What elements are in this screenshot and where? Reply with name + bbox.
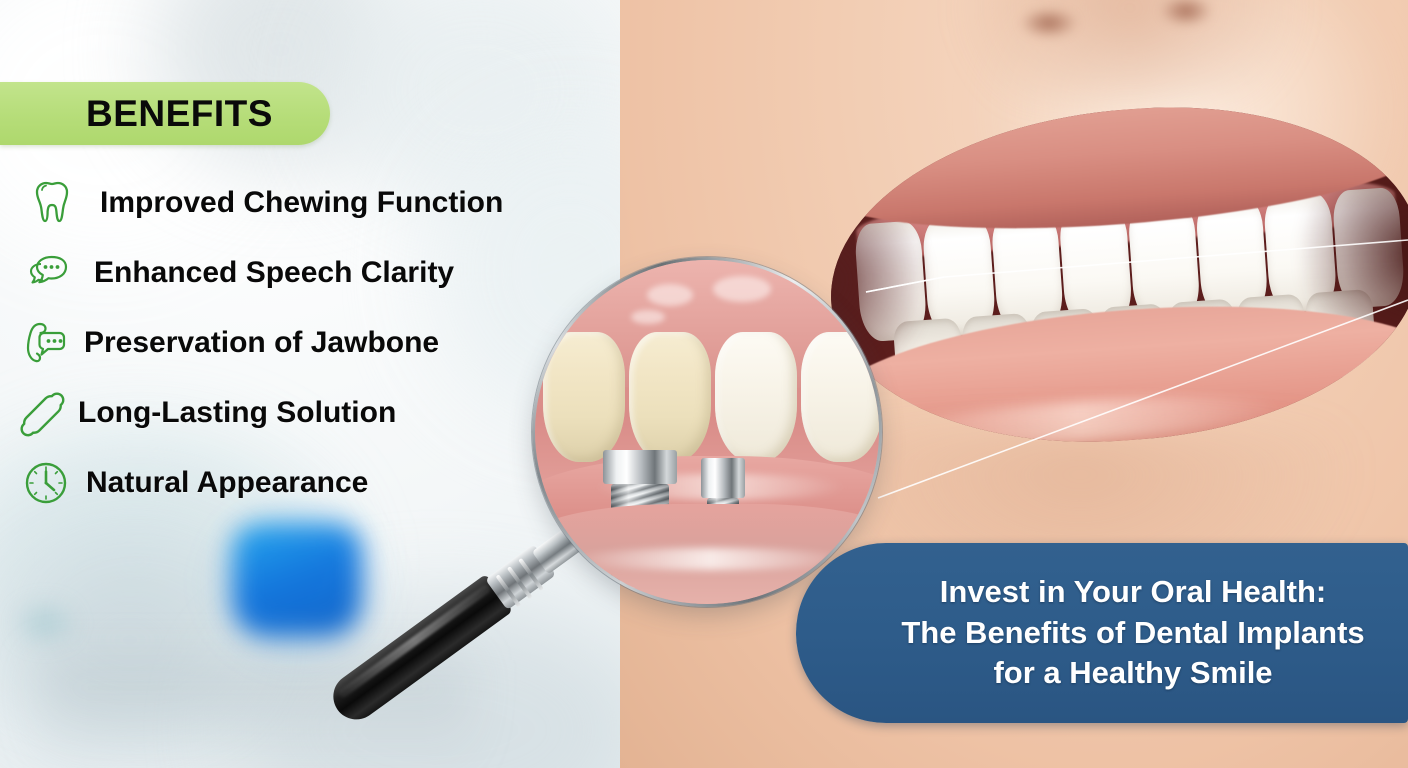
crown (629, 332, 711, 462)
cta-line-2: The Benefits of Dental Implants (839, 613, 1364, 654)
crown (715, 332, 797, 462)
cta-line-3: for a Healthy Smile (931, 653, 1272, 694)
gum-highlight (713, 276, 771, 302)
list-item-label: Natural Appearance (86, 466, 368, 500)
page-title: BENEFITS (86, 93, 273, 135)
cta-line-1: Invest in Your Oral Health: (878, 572, 1326, 613)
crown (801, 332, 879, 462)
speech-bubbles-icon (10, 247, 82, 299)
benefits-list: Improved Chewing Function Enhanced Speec… (0, 168, 600, 518)
list-item-label: Long-Lasting Solution (78, 396, 396, 430)
background-blue-object (233, 524, 361, 636)
list-item: Long-Lasting Solution (0, 378, 600, 448)
list-item: Enhanced Speech Clarity (0, 238, 600, 308)
nose-shadow (950, 0, 1310, 100)
implant-abutment (701, 458, 745, 498)
list-item: Natural Appearance (0, 448, 600, 518)
bone-icon (6, 387, 78, 439)
benefits-badge: BENEFITS (0, 82, 330, 145)
list-item-label: Improved Chewing Function (100, 186, 503, 220)
implant-abutment (603, 450, 677, 484)
cta-banner: Invest in Your Oral Health: The Benefits… (796, 543, 1408, 723)
infographic-canvas: BENEFITS Improved Chewing Function (0, 0, 1408, 768)
list-item: Improved Chewing Function (0, 168, 600, 238)
nostril (1020, 8, 1078, 38)
list-item-label: Preservation of Jawbone (84, 326, 439, 360)
clock-icon (10, 457, 82, 509)
list-item: Preservation of Jawbone (0, 308, 600, 378)
gum-highlight (647, 284, 693, 306)
list-item-label: Enhanced Speech Clarity (94, 256, 454, 290)
background-teal-speck (10, 598, 80, 648)
jaw-speech-icon (10, 317, 82, 369)
tooth-icon (14, 177, 86, 229)
gum-highlight (631, 310, 665, 324)
lower-gum-highlight (575, 548, 845, 570)
